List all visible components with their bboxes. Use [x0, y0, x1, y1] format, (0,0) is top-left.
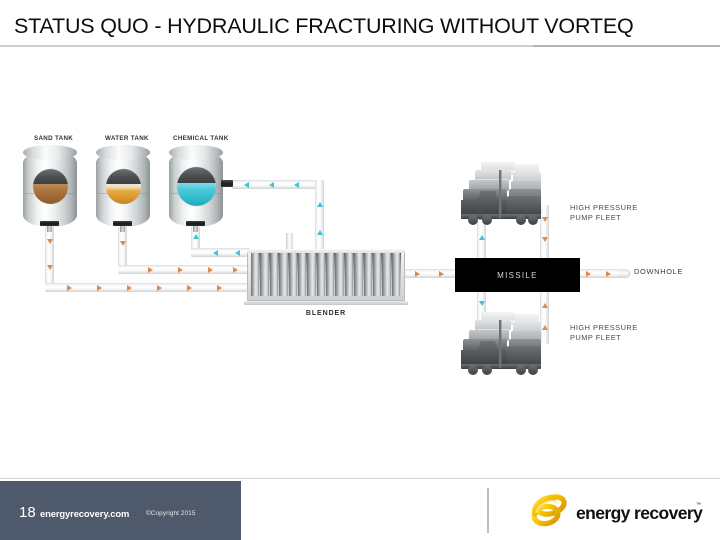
logo-trademark: ™ [696, 502, 701, 508]
pipe-chemical-overhead [232, 180, 324, 189]
tank-sand-window [33, 169, 68, 204]
missile-unit: MISSILE [455, 258, 580, 292]
company-logo: energy recovery ™ [524, 492, 704, 532]
page-number: 18 [19, 504, 36, 521]
footer-copyright: ©Copyright 2015 [146, 510, 196, 517]
pipe-chemical-downcomer [315, 180, 324, 251]
tank-water [96, 145, 150, 227]
footer-website: energyrecovery.com [40, 508, 129, 519]
tank-sand-valve [40, 221, 59, 226]
tank-label-chemical: CHEMICAL TANK [173, 135, 229, 142]
tank-water-valve [113, 221, 132, 226]
fleet-label-bottom: HIGH PRESSURE PUMP FLEET [570, 323, 638, 342]
blender-label: BLENDER [247, 310, 405, 317]
blender-unit [247, 249, 405, 301]
tank-chemical-valve [186, 221, 205, 226]
tank-chemical-side-nozzle [221, 180, 233, 187]
fleet-label-bottom-line2: PUMP FLEET [570, 333, 638, 343]
truck-fleet-top-icon [455, 160, 565, 235]
pipe-missile-to-downhole [578, 269, 620, 278]
tank-label-sand: SAND TANK [34, 135, 73, 142]
truck-fleet-top [455, 160, 565, 235]
pipe-sand-run [45, 283, 250, 292]
tank-water-window [106, 169, 141, 204]
footer-vertical-divider [487, 488, 489, 533]
page-title: STATUS QUO - HYDRAULIC FRACTURING WITHOU… [14, 14, 704, 39]
downhole-label: DOWNHOLE [634, 267, 683, 276]
pipe-sand-drop [45, 225, 54, 288]
pipe-chemical-run [191, 248, 250, 257]
fleet-label-bottom-line1: HIGH PRESSURE [570, 323, 638, 333]
tank-water-top [96, 145, 150, 160]
fleet-label-top-line1: HIGH PRESSURE [570, 203, 638, 213]
title-divider [0, 45, 720, 47]
tank-chemical [169, 145, 223, 227]
tank-label-water: WATER TANK [105, 135, 149, 142]
process-flow-diagram: SAND TANK WATER TANK CHEMICAL TANK [0, 55, 720, 470]
truck-fleet-bottom [455, 310, 565, 385]
logo-wordmark: energy recovery [576, 503, 702, 524]
tank-chemical-window [177, 167, 216, 206]
missile-label: MISSILE [497, 271, 538, 280]
tank-sand-top [23, 145, 77, 160]
downhole-pipe-cap [618, 269, 630, 278]
tank-chemical-top [169, 145, 223, 160]
truck-fleet-bottom-icon [455, 310, 565, 385]
pipe-water-run [118, 265, 250, 274]
tank-sand [23, 145, 77, 227]
fleet-label-top: HIGH PRESSURE PUMP FLEET [570, 203, 638, 222]
pipe-blender-to-missile [403, 269, 459, 278]
energy-recovery-swirl-icon [524, 492, 576, 530]
footer-divider-line [0, 478, 720, 479]
fleet-label-top-line2: PUMP FLEET [570, 213, 638, 223]
